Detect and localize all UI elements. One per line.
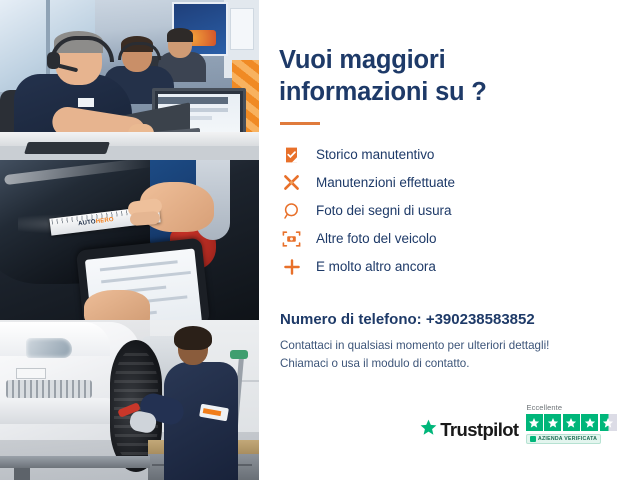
autohero-logo-auto: AUTO — [78, 219, 96, 227]
monitor-toolbar — [158, 97, 228, 104]
verified-label: AZIENDA VERIFICATA — [538, 436, 597, 442]
list-item-label: E molto altro ancora — [316, 259, 436, 274]
star-filled — [526, 414, 543, 431]
list-item: Manutenzioni effettuate — [279, 169, 610, 197]
camera-frame-icon — [279, 228, 304, 250]
tablet-line — [100, 260, 178, 271]
mechanic-wheel-photo — [0, 320, 259, 480]
list-item-label: Foto dei segni di usura — [316, 203, 451, 218]
agent1-name-tag — [78, 98, 94, 107]
verified-business-badge: AZIENDA VERIFICATA — [526, 434, 602, 444]
contact-subtext-2: Chiamaci o usa il modulo di contatto. — [280, 355, 610, 372]
list-item: Altre foto del veicolo — [279, 225, 610, 253]
mechanic-hair — [174, 326, 212, 350]
plus-icon — [279, 256, 304, 278]
trustpilot-rating: Trustpilot Eccellente — [420, 403, 618, 444]
autohero-logo-hero: HERO — [95, 217, 114, 225]
keyboard — [24, 142, 110, 154]
content-panel: Vuoi maggiori informazioni su ? Storico … — [259, 0, 640, 480]
list-item: Foto dei segni di usura — [279, 197, 610, 225]
star-half — [600, 414, 617, 431]
list-item: Storico manutentivo — [279, 141, 610, 169]
front-bumper — [0, 398, 120, 424]
promo-banner: AUTOHERO — [0, 0, 640, 480]
front-grille — [6, 380, 92, 398]
trustpilot-wordmark: Trustpilot — [440, 419, 518, 441]
headlight — [26, 338, 72, 358]
trustpilot-star-icon — [420, 419, 437, 441]
list-item: E molto altro ancora — [279, 253, 610, 281]
inspector-hand-lower — [84, 290, 150, 320]
tablet-line — [101, 271, 191, 283]
star-filled — [581, 414, 598, 431]
call-center-agents-photo — [0, 0, 259, 160]
star-rating — [526, 414, 619, 431]
autohero-inspection-photo: AUTOHERO — [0, 160, 259, 320]
list-item-label: Altre foto del veicolo — [316, 231, 436, 246]
broom-head — [230, 350, 248, 359]
page-title-line2: informazioni su ? — [279, 78, 487, 106]
photo-column: AUTOHERO — [0, 0, 259, 480]
magnifier-icon — [279, 200, 304, 222]
list-item-label: Storico manutentivo — [316, 147, 434, 162]
license-plate — [16, 368, 46, 379]
star-filled — [544, 414, 561, 431]
agent3-hair — [167, 28, 193, 42]
phone-number: Numero di telefono: +390238583852 — [280, 311, 610, 328]
page-title-line1: Vuoi maggiori — [279, 46, 445, 74]
verified-check-icon — [530, 436, 536, 442]
inspector-finger-2 — [130, 211, 161, 226]
car-lift-arm — [0, 456, 150, 468]
trustpilot-score-block: Eccellente — [526, 403, 619, 444]
title-divider — [280, 122, 320, 125]
car-lift-post — [14, 468, 30, 480]
agent2-headset — [118, 42, 161, 60]
feature-list: Storico manutentivo Manutenzioni effettu… — [279, 141, 610, 281]
list-item-label: Manutenzioni effettuate — [316, 175, 455, 190]
clipboard-check-icon — [279, 144, 304, 166]
trustpilot-logo: Trustpilot — [420, 419, 518, 444]
rating-word: Eccellente — [527, 403, 563, 412]
contact-subtext-1: Contattaci in qualsiasi momento per ulte… — [280, 337, 610, 354]
page-title: Vuoi maggiori informazioni su ? — [279, 44, 610, 108]
star-filled — [563, 414, 580, 431]
crossed-tools-icon — [279, 172, 304, 194]
